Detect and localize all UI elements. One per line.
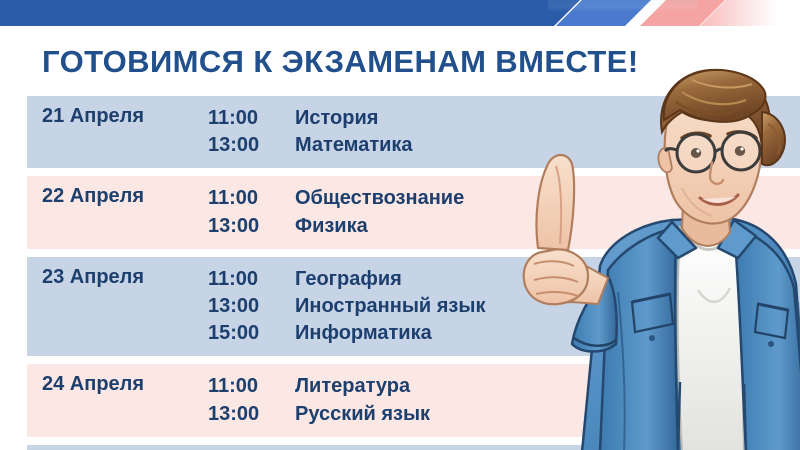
schedule-slot: 13:00Русский язык <box>208 401 800 428</box>
schedule-date: 21 Апреля <box>27 105 208 128</box>
schedule-date: 24 Апреля <box>27 373 208 396</box>
schedule-slots: 11:00История13:00Математика <box>208 105 800 159</box>
schedule-slot: 11:00Обществознание <box>208 185 800 212</box>
schedule-slots: 11:00Обществознание13:00Физика <box>208 185 800 239</box>
slot-subject: Литература <box>295 373 410 400</box>
schedule-row: 23 Апреля11:00География13:00Иностранный … <box>27 257 800 357</box>
top-right-logo <box>548 0 698 12</box>
slot-subject: Информатика <box>295 320 432 347</box>
schedule-row <box>27 445 800 450</box>
slot-time: 11:00 <box>208 185 295 212</box>
slot-time: 11:00 <box>208 373 295 400</box>
slot-subject: Русский язык <box>295 401 430 428</box>
slot-time: 13:00 <box>208 213 295 240</box>
slot-subject: История <box>295 105 378 132</box>
slot-subject: География <box>295 266 402 293</box>
schedule-row: 24 Апреля11:00Литература13:00Русский язы… <box>27 364 800 436</box>
slot-subject: Обществознание <box>295 185 464 212</box>
schedule-row: 22 Апреля11:00Обществознание13:00Физика <box>27 176 800 248</box>
slot-time: 13:00 <box>208 132 295 159</box>
schedule-slot: 13:00Иностранный язык <box>208 293 800 320</box>
schedule-slots: 11:00Литература13:00Русский язык <box>208 373 800 427</box>
slot-subject: Иностранный язык <box>295 293 485 320</box>
slot-time: 13:00 <box>208 401 295 428</box>
slot-time: 11:00 <box>208 266 295 293</box>
slot-subject: Математика <box>295 132 413 159</box>
slot-time: 15:00 <box>208 320 295 347</box>
slot-time: 11:00 <box>208 105 295 132</box>
schedule-date: 22 Апреля <box>27 185 208 208</box>
schedule-slot: 11:00Литература <box>208 373 800 400</box>
banner-navy-stripe <box>0 0 580 26</box>
slot-time: 13:00 <box>208 293 295 320</box>
page-title: ГОТОВИМСЯ К ЭКЗАМЕНАМ ВМЕСТЕ! <box>42 44 639 80</box>
schedule-row: 21 Апреля11:00История13:00Математика <box>27 96 800 168</box>
schedule-slot: 13:00Математика <box>208 132 800 159</box>
poster-canvas: ГОТОВИМСЯ К ЭКЗАМЕНАМ ВМЕСТЕ! 21 Апреля1… <box>0 0 800 450</box>
exam-schedule-list: 21 Апреля11:00История13:00Математика22 А… <box>0 96 800 450</box>
schedule-slot: 13:00Физика <box>208 213 800 240</box>
schedule-slot: 15:00Информатика <box>208 320 800 347</box>
schedule-slot: 11:00История <box>208 105 800 132</box>
schedule-slot: 11:00География <box>208 266 800 293</box>
slot-subject: Физика <box>295 213 368 240</box>
schedule-date: 23 Апреля <box>27 266 208 289</box>
schedule-slots: 11:00География13:00Иностранный язык15:00… <box>208 266 800 348</box>
